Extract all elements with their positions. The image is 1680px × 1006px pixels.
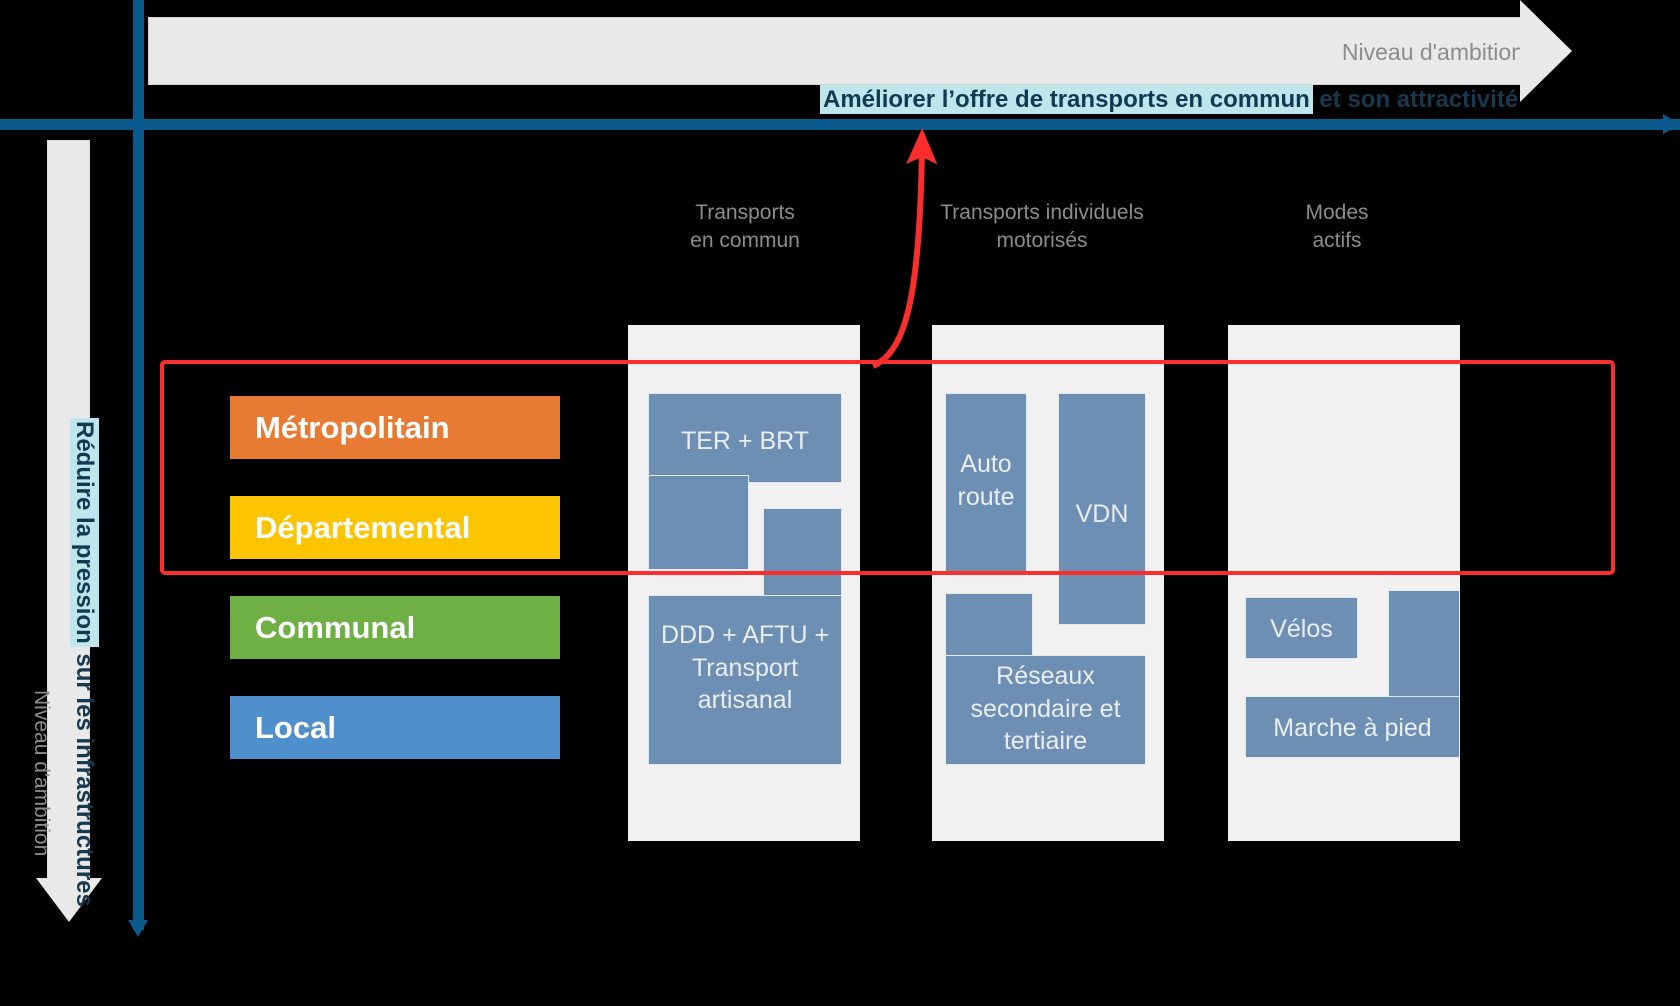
- column-header-transports-en-commun: Transports en commun: [620, 199, 870, 254]
- column-header-line2: en commun: [620, 227, 870, 255]
- axis-horizontal: [0, 119, 1680, 130]
- block-reseaux-label: Réseaux secondaire et tertiaire: [948, 660, 1143, 758]
- objective-top-highlight: Améliorer l’offre de transports en commu…: [820, 85, 1313, 114]
- objective-left: Réduire la pression sur les infrastructu…: [70, 418, 98, 907]
- level-label-local: Local: [230, 696, 560, 759]
- ambition-arrow-top-head: [1520, 0, 1572, 102]
- block-ddd-aftu-label: DDD + AFTU + Transport artisanal: [652, 619, 838, 717]
- red-focus-rectangle: [160, 360, 1615, 575]
- objective-left-highlight: Réduire la pression: [70, 418, 99, 647]
- column-header-line1: Transports: [620, 199, 870, 227]
- level-label-communal: Communal: [230, 596, 560, 659]
- block-velos-label: Vélos: [1245, 613, 1358, 646]
- column-header-line1: Modes: [1212, 199, 1462, 227]
- column-header-modes-actifs: Modes actifs: [1212, 199, 1462, 254]
- block-marche-a-pied-label: Marche à pied: [1245, 712, 1460, 745]
- objective-top-rest: et son attractivité: [1313, 86, 1518, 113]
- axis-vertical-arrowhead: [128, 920, 148, 937]
- objective-top: Améliorer l’offre de transports en commu…: [820, 83, 1518, 117]
- ambition-arrow-top: Niveau d'ambition: [148, 17, 1526, 85]
- objective-left-rest: sur les infrastructures: [71, 647, 98, 907]
- axis-vertical: [133, 0, 144, 930]
- column-header-transports-individuels-motorises: Transports individuels motorisés: [917, 199, 1167, 254]
- ambition-arrow-top-label: Niveau d'ambition: [1342, 39, 1524, 66]
- axis-horizontal-arrowhead: [1663, 114, 1680, 134]
- diagram-canvas: Niveau d'ambition Niveau d'ambition Amél…: [0, 0, 1680, 1006]
- column-header-line2: actifs: [1212, 227, 1462, 255]
- ambition-arrow-left-label: Niveau d'ambition: [29, 690, 53, 856]
- column-header-line2: motorisés: [917, 227, 1167, 255]
- column-header-line1: Transports individuels: [917, 199, 1167, 227]
- block-marche-riser: [1388, 590, 1460, 705]
